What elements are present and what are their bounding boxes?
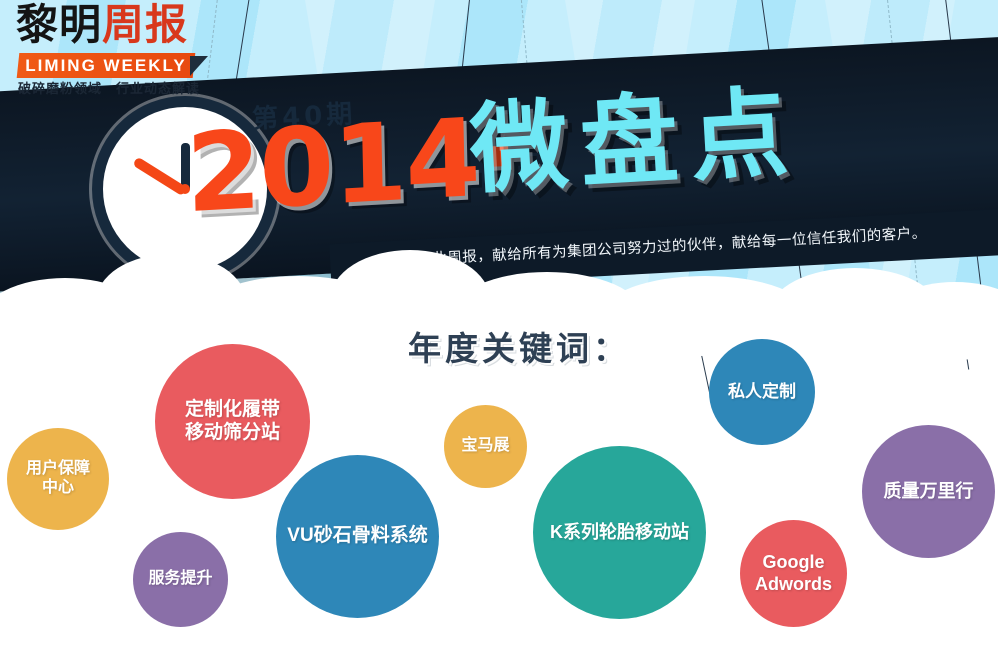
- keyword-bubble[interactable]: 质量万里行: [862, 425, 995, 558]
- infographic-canvas: 第40期 2014· 微盘点 ——谨以此周报，献给所有为集团公司努力过的伙伴，献…: [0, 0, 998, 651]
- keyword-bubble[interactable]: 宝马展: [444, 405, 527, 488]
- keyword-bubble[interactable]: 用户保障 中心: [7, 428, 109, 530]
- masthead-title-cn-part2: 周报: [102, 0, 188, 49]
- masthead-tagline-left: 破碎磨粉领域: [18, 81, 102, 96]
- keywords-heading: 年度关键词：: [408, 322, 630, 370]
- masthead-banner: LIMING WEEKLY: [17, 53, 196, 78]
- keyword-bubble[interactable]: 私人定制: [709, 339, 815, 445]
- keyword-bubble[interactable]: 服务提升: [133, 532, 228, 627]
- keyword-bubble[interactable]: K系列轮胎移动站: [533, 446, 706, 619]
- keyword-bubble[interactable]: Google Adwords: [740, 520, 847, 627]
- keyword-bubble[interactable]: 定制化履带 移动筛分站: [155, 344, 310, 499]
- main-title: 微盘点: [468, 83, 803, 199]
- masthead-title-cn-part1: 黎明: [16, 0, 102, 49]
- masthead-tagline-right: 行业动态解读: [102, 81, 200, 96]
- keyword-bubble[interactable]: VU砂石骨料系统: [276, 455, 439, 618]
- masthead-title-cn: 黎明周报: [16, 4, 188, 46]
- masthead-tagline: 破碎磨粉领域行业动态解读: [18, 78, 200, 97]
- masthead-logo: 黎明周报 LIMING WEEKLY 破碎磨粉领域行业动态解读: [8, 4, 204, 94]
- masthead-ribbon-tail: [190, 56, 208, 76]
- masthead-title-en: LIMING WEEKLY: [18, 53, 194, 78]
